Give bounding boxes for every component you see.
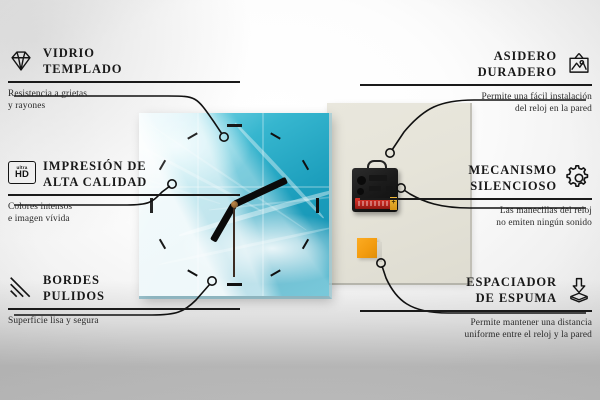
feature-title: ESPACIADOR DE ESPUMA: [466, 274, 557, 306]
feature-divider: [8, 194, 240, 196]
feature-title: MECANISMO SILENCIOSO: [468, 162, 557, 194]
feature-description: Permite mantener una distancia uniforme …: [360, 317, 592, 342]
feature-title: IMPRESIÓN DE ALTA CALIDAD: [43, 158, 147, 190]
arrow-down-onto-layer-icon: [566, 277, 592, 303]
feature-description: Permite una fácil instalación del reloj …: [360, 91, 592, 116]
feature-description: Superficie lisa y segura: [8, 315, 240, 328]
feature-mecanismo-silencioso: MECANISMO SILENCIOSO Las manecillas del …: [360, 162, 592, 230]
feature-header: BORDES PULIDOS: [8, 272, 240, 304]
feature-divider: [8, 308, 240, 310]
feature-espaciador-de-espuma: ESPACIADOR DE ESPUMA Permite mantener un…: [360, 274, 592, 342]
gear-icon: [566, 165, 592, 191]
feature-description: Resistencia a grietas y rayones: [8, 88, 240, 113]
feature-header: ESPACIADOR DE ESPUMA: [360, 274, 592, 306]
feature-bordes-pulidos: BORDES PULIDOS Superficie lisa y segura: [8, 272, 240, 327]
feature-header: ASIDERO DURADERO: [360, 48, 592, 80]
feature-header: MECANISMO SILENCIOSO: [360, 162, 592, 194]
feature-vidrio-templado: VIDRIO TEMPLADO Resistencia a grietas y …: [8, 45, 240, 113]
clock-tick-major: [316, 198, 319, 213]
ultra-hd-badge-icon: ultra HD: [8, 161, 34, 187]
foam-spacer: [357, 238, 377, 258]
infographic-canvas: +: [0, 0, 600, 400]
feature-title: ASIDERO DURADERO: [478, 48, 557, 80]
diagonal-lines-icon: [8, 275, 34, 301]
clock-tick-major: [227, 124, 242, 127]
feature-asidero-duradero: ASIDERO DURADERO Permite una fácil insta…: [360, 48, 592, 116]
glass-panel-seam: [262, 113, 264, 296]
feature-impresion-alta-calidad: ultra HD IMPRESIÓN DE ALTA CALIDAD Color…: [8, 158, 240, 226]
feature-divider: [360, 84, 592, 86]
feature-divider: [360, 310, 592, 312]
feature-title: VIDRIO TEMPLADO: [43, 45, 122, 77]
feature-header: VIDRIO TEMPLADO: [8, 45, 240, 77]
feature-divider: [8, 81, 240, 83]
diamond-icon: [8, 48, 34, 74]
feature-divider: [360, 198, 592, 200]
feature-description: Las manecillas del reloj no emiten ningú…: [360, 205, 592, 230]
hanging-picture-frame-icon: [566, 51, 592, 77]
feature-description: Colores intensos e imagen vívida: [8, 201, 240, 226]
feature-title: BORDES PULIDOS: [43, 272, 105, 304]
feature-header: ultra HD IMPRESIÓN DE ALTA CALIDAD: [8, 158, 240, 190]
badge-hd-text: HD: [15, 170, 29, 180]
foam-spacer-shadow: [377, 242, 382, 262]
